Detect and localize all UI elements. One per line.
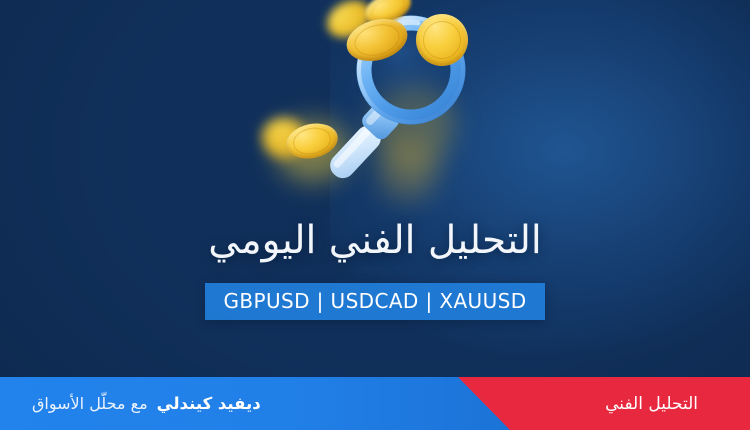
- ticker-badge-row: GBPUSD | USDCAD | XAUUSD: [0, 283, 750, 320]
- promo-banner: التحليل الفني اليومي GBPUSD | USDCAD | X…: [0, 0, 750, 430]
- analyst-label: مع محلّل الأسواق: [32, 394, 148, 413]
- analyst-credit: ديفيد كيندلي مع محلّل الأسواق: [32, 377, 261, 430]
- ticker-badge: GBPUSD | USDCAD | XAUUSD: [205, 283, 544, 320]
- hero-illustration: [268, 0, 508, 207]
- analyst-name: ديفيد كيندلي: [157, 394, 261, 413]
- section-title: التحليل الفني: [605, 377, 698, 430]
- page-title: التحليل الفني اليومي: [0, 218, 750, 264]
- footer-bar: ديفيد كيندلي مع محلّل الأسواق التحليل ال…: [0, 377, 750, 430]
- coin-icon: [413, 11, 472, 70]
